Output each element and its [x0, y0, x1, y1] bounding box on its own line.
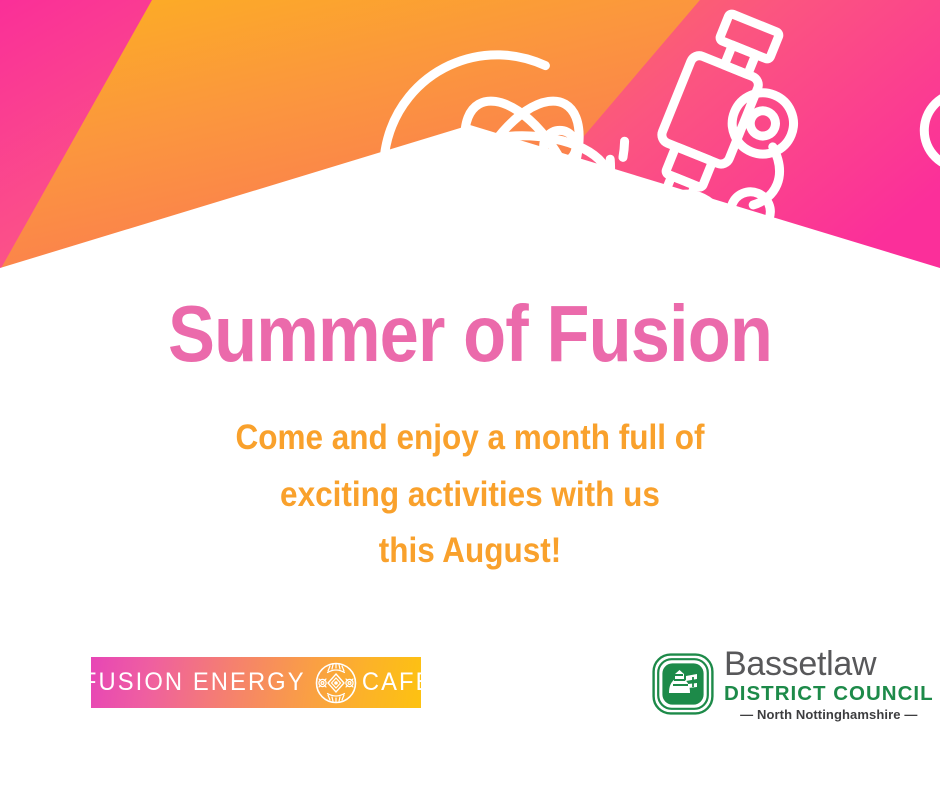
subheadline-line-1: Come and enjoy a month full of: [47, 410, 893, 467]
subheadline-line-2: exciting activities with us: [47, 467, 893, 524]
poster-canvas: Summer of Fusion Come and enjoy a month …: [0, 0, 940, 788]
fusion-logo-text-before: FUSION ENERGY: [82, 668, 306, 697]
bassetlaw-district-council-logo[interactable]: Bassetlaw DISTRICT COUNCIL — North Notti…: [652, 648, 934, 720]
banner-header: [0, 0, 940, 270]
page-title: Summer of Fusion: [56, 292, 883, 376]
bassetlaw-subtitle: DISTRICT COUNCIL: [724, 684, 934, 705]
fusion-circular-emblem-icon: [315, 662, 357, 704]
fusion-logo-text-after: CAFÉ: [362, 668, 434, 697]
logo-strip: FUSION ENERGY: [0, 640, 940, 740]
bassetlaw-name: Bassetlaw: [724, 647, 934, 681]
fusion-energy-cafe-logo[interactable]: FUSION ENERGY: [91, 657, 421, 708]
poster-content: Summer of Fusion Come and enjoy a month …: [0, 270, 940, 580]
banner-gradient-shape: [0, 0, 940, 270]
subheadline-line-3: this August!: [47, 523, 893, 580]
bassetlaw-wordmark: Bassetlaw DISTRICT COUNCIL — North Notti…: [724, 647, 934, 722]
subheadline: Come and enjoy a month full of exciting …: [47, 410, 893, 580]
bassetlaw-crest-icon: [652, 653, 714, 715]
bassetlaw-region: — North Nottinghamshire —: [724, 708, 934, 721]
